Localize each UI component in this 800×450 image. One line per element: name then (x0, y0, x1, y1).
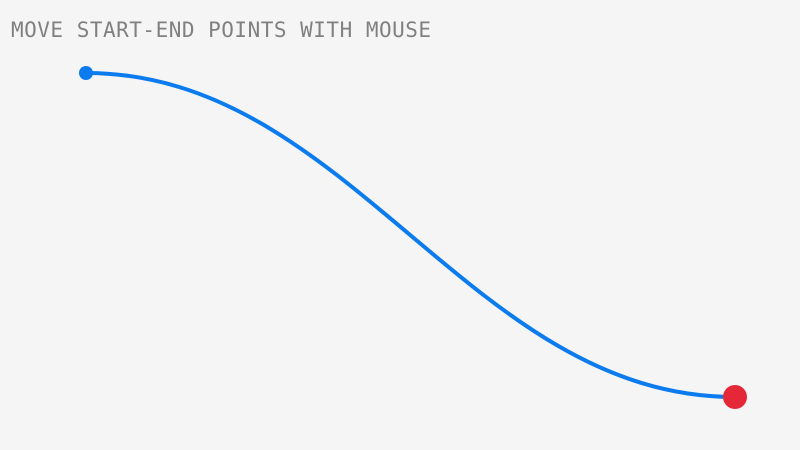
app-root: MOVE START-END POINTS WITH MOUSE (0, 0, 800, 450)
end-handle[interactable] (723, 385, 747, 409)
bezier-curve-path (86, 73, 735, 397)
curve-canvas[interactable] (0, 0, 800, 450)
start-handle[interactable] (79, 66, 93, 80)
curve-svg (0, 0, 800, 450)
